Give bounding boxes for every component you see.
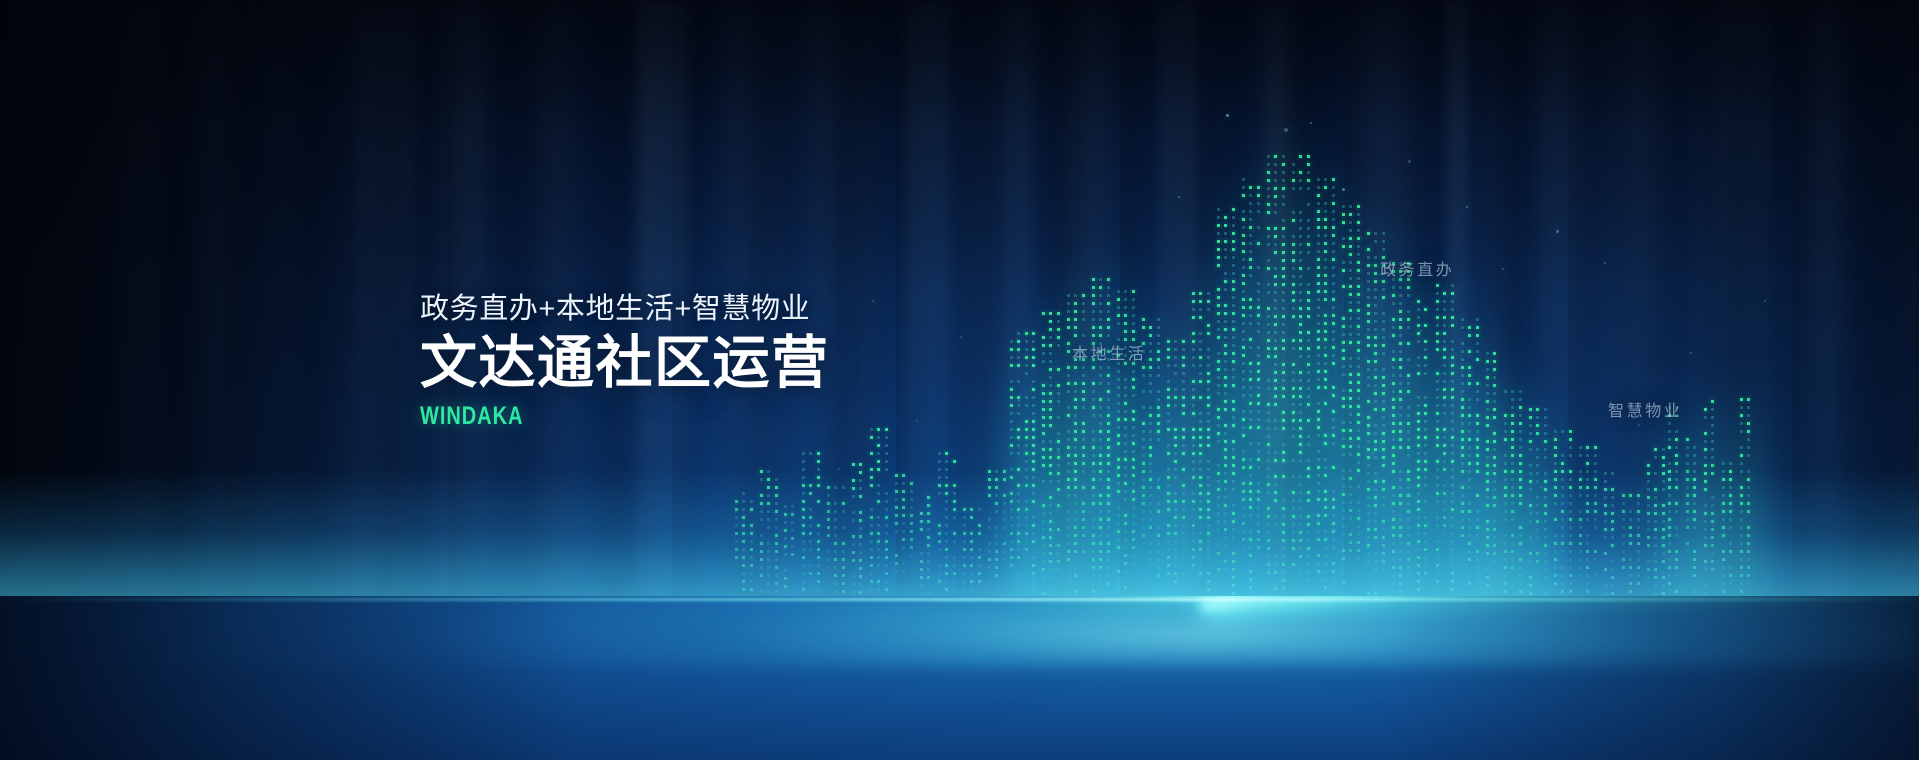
perspective-ground-plane bbox=[0, 596, 1919, 760]
banner-subtitle: 政务直办+本地生活+智慧物业 bbox=[420, 292, 830, 326]
floating-label-1: 本地生活 bbox=[1072, 340, 1146, 364]
hero-banner: 本地生活政务直办智慧物业 政务直办+本地生活+智慧物业 文达通社区运营 WIND… bbox=[0, 0, 1919, 760]
banner-copy-block: 政务直办+本地生活+智慧物业 文达通社区运营 WINDAKA bbox=[420, 292, 830, 429]
brand-wordmark: WINDAKA bbox=[420, 404, 748, 429]
banner-headline: 文达通社区运营 bbox=[420, 334, 830, 394]
floating-label-3: 智慧物业 bbox=[1608, 397, 1682, 421]
floating-label-2: 政务直办 bbox=[1380, 256, 1454, 280]
ground-edge-shading bbox=[0, 596, 1919, 760]
